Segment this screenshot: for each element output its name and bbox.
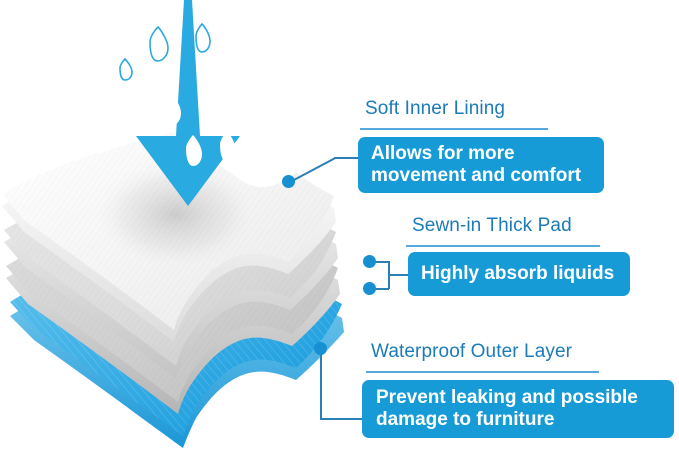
callout-heading-soft-inner-lining: Soft Inner Lining	[365, 99, 505, 118]
water-droplet-icon	[220, 131, 236, 162]
connector-line-soft-inner-lining-horizontal	[334, 157, 360, 159]
water-droplet-icon	[120, 59, 132, 80]
water-droplet-icon	[161, 91, 181, 126]
callout-body-line: damage to furniture	[376, 409, 638, 431]
water-droplet-icon	[220, 93, 240, 128]
connector-line-sewn-in-thick-pad-stem	[388, 274, 410, 276]
water-absorption-arrow-group	[108, 0, 298, 212]
callout-box-waterproof-outer-layer[interactable]: Prevent leaking and possible damage to f…	[362, 380, 674, 438]
connector-line-waterproof-outer-vertical	[320, 348, 322, 419]
callout-box-sewn-in-thick-pad[interactable]: Highly absorb liquids	[408, 252, 630, 296]
callout-heading-sewn-in-thick-pad: Sewn-in Thick Pad	[412, 216, 572, 235]
callout-rule-soft-inner-lining	[360, 128, 548, 130]
callout-rule-waterproof-outer-layer	[366, 371, 599, 373]
infographic-canvas: Soft Inner Lining Allows for more moveme…	[0, 0, 679, 456]
callout-body-line: movement and comfort	[371, 165, 581, 187]
connector-dot-sewn-in-thick-pad-lower	[363, 282, 376, 295]
connector-line-sewn-in-thick-pad-top	[374, 261, 389, 263]
connector-line-sewn-in-thick-pad-bottom	[374, 288, 389, 290]
water-droplet-icon	[196, 24, 210, 52]
callout-body-line: Prevent leaking and possible	[376, 387, 638, 409]
callout-body-line: Highly absorb liquids	[421, 263, 614, 285]
callout-heading-waterproof-outer-layer: Waterproof Outer Layer	[371, 342, 572, 361]
water-droplet-icon	[150, 27, 168, 61]
connector-dot-waterproof-outer	[314, 342, 327, 355]
connector-dot-sewn-in-thick-pad-upper	[363, 255, 376, 268]
callout-box-soft-inner-lining[interactable]: Allows for more movement and comfort	[358, 137, 604, 193]
connector-line-waterproof-outer-horizontal	[320, 418, 362, 420]
connector-dot-soft-inner-lining	[282, 175, 295, 188]
water-droplet-icon	[201, 72, 216, 101]
callout-body-line: Allows for more	[371, 143, 581, 165]
callout-rule-sewn-in-thick-pad	[406, 245, 600, 247]
